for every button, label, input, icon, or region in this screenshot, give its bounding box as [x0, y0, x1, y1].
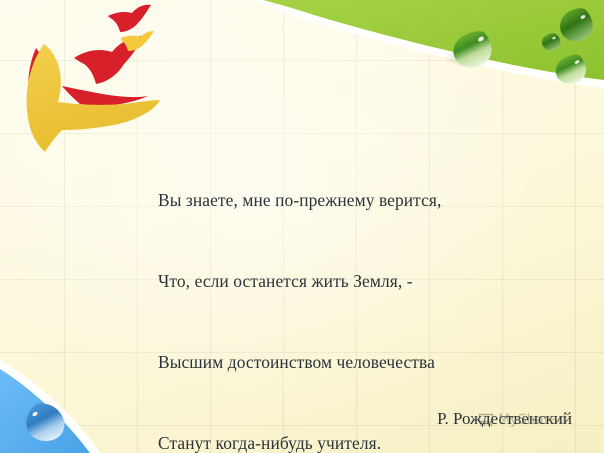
hand-releasing-birds-logo: [27, 5, 160, 152]
poem-line: Высшим достоинством человечества: [158, 349, 578, 376]
poem-line: Станут когда-нибудь учителя.: [158, 430, 578, 453]
poem-stanza: Вы знаете, мне по-прежнему верится, Что,…: [158, 133, 578, 453]
poem-attribution: Р. Рождественский: [300, 408, 572, 430]
poem-line: Вы знаете, мне по-прежнему верится,: [158, 187, 578, 214]
poem-line: Что, если останется жить Земля, -: [158, 268, 578, 295]
slide-canvas: Вы знаете, мне по-прежнему верится, Что,…: [0, 0, 604, 453]
poem-body: Вы знаете, мне по-прежнему верится, Что,…: [158, 52, 578, 453]
